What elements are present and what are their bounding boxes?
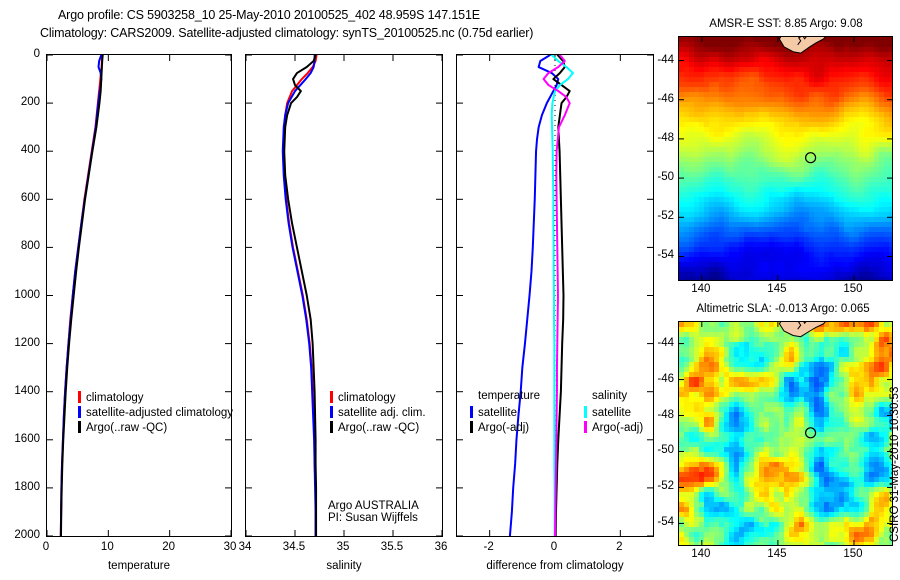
map-lat-tick-label: -48 [657,409,674,421]
salinity-legend: climatology satellite adj. clim. Argo(..… [330,389,426,434]
axis-tick-label: 0 [551,541,557,553]
legend-item: climatology [78,389,233,404]
legend-label: Argo(-adj) [592,422,643,434]
depth-tick-label: 200 [21,96,40,108]
legend-swatch-satellite [330,406,333,418]
map-lat-tick-label: -54 [657,516,674,528]
axis-tick-label: 35.5 [381,541,403,553]
map-lon-tick-label: 145 [767,283,786,295]
map-lat-tick-label: -46 [657,373,674,385]
difference-legend: temperature satellite Argo(-adj) salinit… [470,389,643,434]
salinity-panel [245,54,443,537]
sla-map-yaxis-ticks: -44-46-48-50-52-54 [640,321,676,546]
legend-label: Argo(..raw -QC) [338,422,419,434]
depth-tick-label: 2000 [14,529,40,541]
legend-label: satellite [592,407,631,419]
axis-tick-label: 10 [101,541,114,553]
depth-tick-label: 1000 [14,289,40,301]
sla-map-panel [678,321,893,546]
map-lat-tick-label: -50 [657,444,674,456]
map-lon-tick-label: 145 [767,548,786,560]
legend-item: Argo(-adj) [584,419,643,434]
map-lon-tick-label: 140 [691,283,710,295]
legend-item: climatology [330,389,426,404]
salinity-axis-label: salinity [245,560,443,572]
legend-item: satellite-adjusted climatology [78,404,233,419]
difference-plot-area [457,55,653,536]
legend-swatch-climatology [78,391,81,403]
legend-column-header: salinity [584,389,643,404]
sla-map-title: Altimetric SLA: -0.013 Argo: 0.065 [668,303,898,315]
legend-swatch-temp-satellite [470,406,473,418]
sla-map-xaxis-ticks: 140145150 [678,548,893,564]
map-lon-tick-label: 140 [691,548,710,560]
depth-tick-label: 1200 [14,337,40,349]
sst-map-xaxis-ticks: 140145150 [678,283,893,299]
legend-swatch-satellite [78,406,81,418]
plot-title-line2: Climatology: CARS2009. Satellite-adjuste… [40,26,533,40]
temperature-legend: climatology satellite-adjusted climatolo… [78,389,233,434]
principal-investigator: PI: Susan Wijffels [328,512,419,524]
legend-label: climatology [338,392,396,404]
axis-tick-label: 36 [435,541,448,553]
legend-swatch-climatology [330,391,333,403]
legend-swatch-argo [78,421,81,433]
map-lon-tick-label: 150 [843,283,862,295]
map-lon-tick-label: 150 [843,548,862,560]
legend-item: Argo(..raw -QC) [330,419,426,434]
axis-tick-label: 34 [239,541,252,553]
legend-label: satellite adj. clim. [338,407,426,419]
temperature-plot-area [47,55,231,536]
map-lat-tick-label: -54 [657,249,674,261]
csiro-timestamp: CSIRO 31-May-2010 10:30:53 [889,387,900,542]
map-lat-tick-label: -46 [657,93,674,105]
axis-tick-label: 34.5 [283,541,305,553]
sst-map-panel [678,36,893,281]
depth-tick-label: 400 [21,144,40,156]
legend-label: Argo(-adj) [478,422,529,434]
legend-label: Argo(..raw -QC) [86,422,167,434]
legend-column-header: temperature [470,389,540,404]
depth-tick-label: 1400 [14,385,40,397]
axis-tick-label: 2 [616,541,622,553]
map-lat-tick-label: -44 [657,54,674,66]
map-lat-tick-label: -44 [657,337,674,349]
map-lat-tick-label: -48 [657,132,674,144]
depth-tick-label: 1800 [14,481,40,493]
sst-map-yaxis-ticks: -44-46-48-50-52-54 [640,36,676,281]
salinity-xaxis-ticks: 3434.53535.536 [245,539,443,557]
depth-tick-label: 1600 [14,433,40,445]
legend-item: Argo(-adj) [470,419,540,434]
legend-item: Argo(..raw -QC) [78,419,233,434]
legend-label: satellite-adjusted climatology [86,407,233,419]
plot-title-line1: Argo profile: CS 5903258_10 25-May-2010 … [58,8,480,22]
difference-panel [456,54,654,537]
legend-label: satellite [478,407,517,419]
temperature-yaxis-ticks: 0200400600800100012001400160018002000 [0,54,44,537]
axis-tick-label: -2 [484,541,494,553]
sst-map-title: AMSR-E SST: 8.85 Argo: 9.08 [676,18,896,30]
sla-map-area [679,322,892,545]
sst-map-area [679,37,892,280]
depth-tick-label: 0 [34,48,40,60]
legend-swatch-argo [330,421,333,433]
legend-item: satellite [470,404,540,419]
legend-item: satellite adj. clim. [330,404,426,419]
map-lat-tick-label: -50 [657,171,674,183]
depth-tick-label: 600 [21,192,40,204]
legend-swatch-sal-argo [584,421,587,433]
legend-swatch-sal-satellite [584,406,587,418]
legend-item: satellite [584,404,643,419]
depth-tick-label: 800 [21,240,40,252]
temperature-xaxis-ticks: 0102030 [46,539,232,557]
attribution: Argo AUSTRALIA PI: Susan Wijffels [328,500,419,524]
map-lat-tick-label: -52 [657,480,674,492]
axis-tick-label: 0 [43,541,49,553]
difference-axis-label: difference from climatology [456,560,654,572]
salinity-plot-area [246,55,442,536]
temperature-axis-label: temperature [46,560,232,572]
difference-xaxis-ticks: -202 [456,539,654,557]
axis-tick-label: 20 [162,541,175,553]
legend-column-salinity: salinity satellite Argo(-adj) [584,389,643,434]
legend-label: climatology [86,392,144,404]
program-name: Argo AUSTRALIA [328,500,419,512]
axis-tick-label: 35 [337,541,350,553]
axis-tick-label: 30 [224,541,237,553]
temperature-panel [46,54,232,537]
map-lat-tick-label: -52 [657,210,674,222]
legend-column-temperature: temperature satellite Argo(-adj) [470,389,540,434]
legend-swatch-temp-argo [470,421,473,433]
